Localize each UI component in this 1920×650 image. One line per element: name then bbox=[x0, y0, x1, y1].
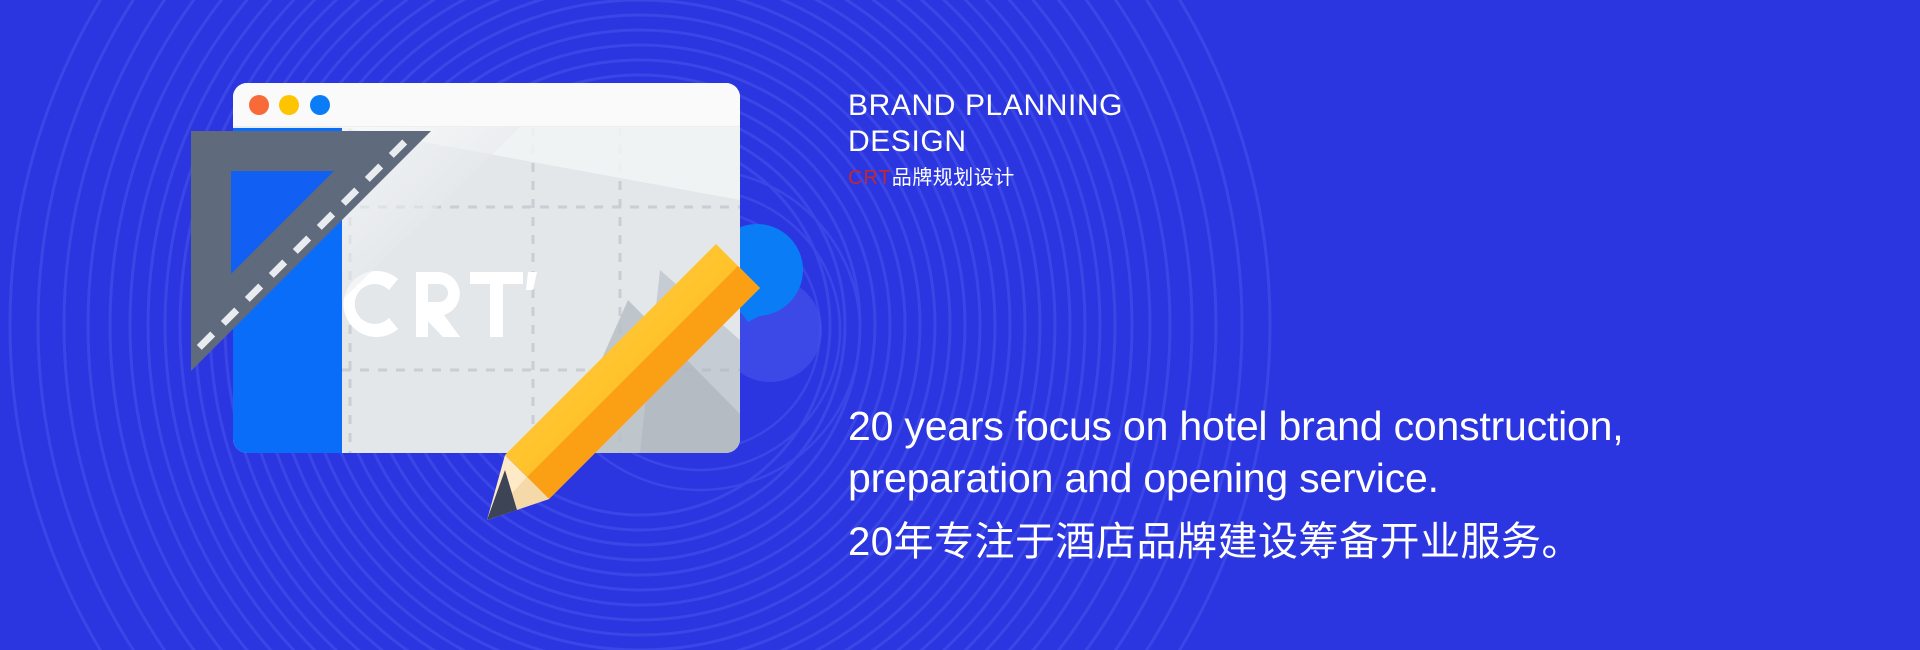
minimize-dot-icon bbox=[279, 95, 299, 115]
tagline-chinese: 20年专注于酒店品牌建设筹备开业服务。 bbox=[848, 516, 1848, 568]
crt-brand-mark: CRT bbox=[848, 167, 892, 189]
eyebrow-chinese-text: 品牌规划设计 bbox=[892, 167, 1015, 189]
window-traffic-light-dots bbox=[249, 95, 330, 115]
brand-banner: BRAND PLANNING DESIGN CRT品牌规划设计 20 years… bbox=[0, 0, 1920, 650]
maximize-dot-icon bbox=[310, 95, 330, 115]
tagline-english: 20 years focus on hotel brand constructi… bbox=[848, 400, 1848, 504]
hero-illustration bbox=[0, 0, 900, 650]
tagline-block: 20 years focus on hotel brand constructi… bbox=[848, 400, 1848, 568]
eyebrow-chinese-subtitle: CRT品牌规划设计 bbox=[848, 165, 1123, 191]
eyebrow-block: BRAND PLANNING DESIGN CRT品牌规划设计 bbox=[848, 88, 1123, 191]
close-dot-icon bbox=[249, 95, 269, 115]
eyebrow-english-heading: BRAND PLANNING DESIGN bbox=[848, 88, 1123, 160]
banner-text-column: BRAND PLANNING DESIGN CRT品牌规划设计 20 years… bbox=[848, 0, 1888, 650]
